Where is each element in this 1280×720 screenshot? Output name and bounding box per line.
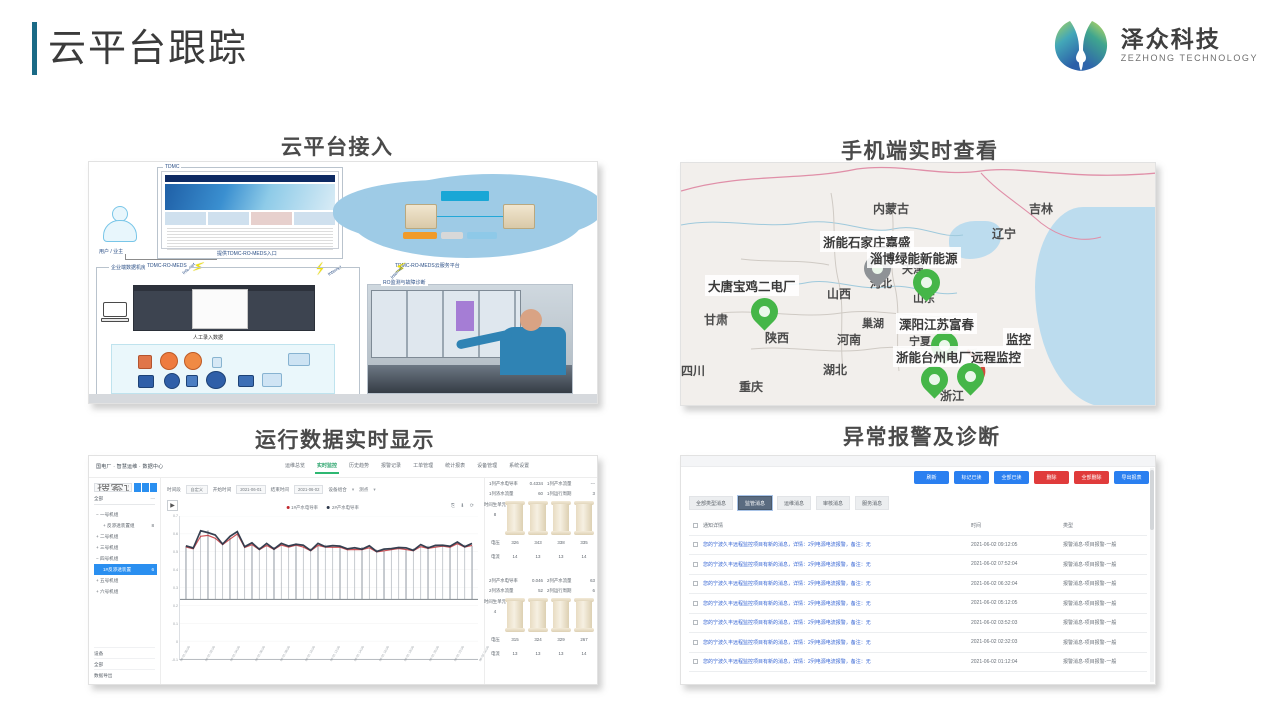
quadrant-title-mobile-view: 手机端实时查看 xyxy=(841,135,999,165)
dashboard-nav[interactable]: 运维总览 实时监控 历史趋势 报警记录 工单管理 统计报表 设备管理 系统设置 xyxy=(285,462,529,469)
select-all-checkbox[interactable] xyxy=(689,523,702,528)
y-tick: 0.6 xyxy=(173,532,178,536)
quadrant-title-cloud-access: 云平台接入 xyxy=(281,131,394,161)
filter-label-1: 开始时间 xyxy=(213,487,231,493)
spool-row-1 xyxy=(505,501,594,535)
y-tick: 0.5 xyxy=(173,550,178,554)
map-marker-label-zibo[interactable]: 淄博绿能新能源 xyxy=(867,247,961,268)
province-label-jilin: 吉林 xyxy=(1029,200,1053,217)
row-type: 报警消息-项目报警-一般 xyxy=(1063,541,1147,548)
search-icon[interactable] xyxy=(134,483,141,492)
table-row[interactable]: 您的宁波久丰远程监控项目有新的消息，详情：2列电源电流报警，备注：无 2021-… xyxy=(689,575,1147,595)
voltage-row-2: 电压 315324 329267 xyxy=(485,637,594,643)
tab-service-messages[interactable]: 服务消息 xyxy=(855,496,889,510)
metric-4: 2列产水电导率0.046 xyxy=(489,578,543,584)
unit-label-1: 时间生单元 xyxy=(484,502,506,508)
quadrant-title-alarm-diagnosis: 异常报警及诊断 xyxy=(843,421,1001,451)
portal-browser-mock xyxy=(161,171,339,249)
cloud-server-icon xyxy=(405,204,437,229)
cloud-server-icon xyxy=(503,204,535,229)
alarm-table: 通知详情 时间 类型 您的宁波久丰远程监控项目有新的消息，详情：2列电源电流报警… xyxy=(689,516,1147,678)
metric-1: 1列产水流量--- xyxy=(547,481,595,487)
metrics-panel: 1列产水电导率0.4334 1列产水流量--- 1列浓水流量60 1列运行周期3… xyxy=(484,478,597,684)
y-tick: 0.1 xyxy=(173,622,178,626)
china-map[interactable]: 内蒙古 吉林 辽宁 河北 天津 山西 山东 甘肃 陕西 河南 湖北 重庆 四川 … xyxy=(681,163,1155,405)
y-tick: 0.3 xyxy=(173,586,178,590)
filter-value-1[interactable]: 2021-06-01 xyxy=(236,485,265,494)
province-label-liaoning: 辽宁 xyxy=(992,225,1016,242)
column-header-type: 类型 xyxy=(1063,522,1147,529)
row-message[interactable]: 您的宁波久丰远程监控项目有新的消息，详情：2列电源电流报警，备注：无 xyxy=(702,580,971,587)
mark-all-read-button[interactable]: 全部已读 xyxy=(994,471,1029,484)
delete-all-button[interactable]: 全部删除 xyxy=(1074,471,1109,484)
manual-entry-label: 人工录入数据 xyxy=(193,334,223,341)
cloud-chip xyxy=(403,232,437,239)
tree-item[interactable]: + 反渗透装置组 8 xyxy=(94,520,157,531)
row-message[interactable]: 您的宁波久丰远程监控项目有新的消息，详情：2列电源电流报警，备注：无 xyxy=(702,561,971,568)
y-tick: 0.7 xyxy=(173,514,178,518)
device-tree[interactable]: − 一号机组 + 反渗透装置组 8 + 二号机组 + 三号机组 − 四号机组 1… xyxy=(94,509,157,597)
cloud-chip xyxy=(441,232,463,239)
filter-label-0: 时间段 xyxy=(167,487,181,493)
cloud-chip xyxy=(467,232,497,239)
province-label-henan: 河南 xyxy=(837,331,861,348)
user-label: 用户 / 业主 xyxy=(99,248,123,255)
add-icon[interactable] xyxy=(142,483,149,492)
spool-icon xyxy=(528,598,548,632)
quadrant-title-runtime-data: 运行数据实时显示 xyxy=(255,424,435,454)
spool-icon xyxy=(505,598,525,632)
spool-icon xyxy=(505,501,525,535)
current-row-2: 电流 1313 1314 xyxy=(485,651,594,657)
y-tick: -0.1 xyxy=(172,658,178,662)
chevron-down-icon[interactable]: — xyxy=(151,496,156,501)
refresh-button[interactable]: 刷新 xyxy=(914,471,949,484)
row-type: 报警消息-项目报警-一般 xyxy=(1063,561,1147,568)
slide-header: 云平台跟踪 泽众科技 ZEZHONG TECHNOLOGY xyxy=(0,0,1280,104)
metric-6: 2列浓水流量52 xyxy=(489,588,543,594)
portal-caption: TDMC xyxy=(163,164,181,170)
nav-item-3[interactable]: 报警记录 xyxy=(381,462,401,469)
title-accent-bar xyxy=(32,22,37,75)
spool-icon xyxy=(551,598,571,632)
row-checkbox[interactable] xyxy=(689,640,702,645)
table-row[interactable]: 您的宁波久丰远程监控项目有新的消息，详情：2列电源电流报警，备注：无 2021-… xyxy=(689,555,1147,575)
column-header-time: 时间 xyxy=(971,522,1063,529)
row-time: 2021-06-02 09:12:05 xyxy=(971,542,1063,548)
table-row[interactable]: 您的宁波久丰远程监控项目有新的消息，详情：2列电源电流报警，备注：无 2021-… xyxy=(689,633,1147,653)
spool-icon xyxy=(574,598,594,632)
cloud-tag-badge xyxy=(441,191,489,201)
table-row[interactable]: 您的宁波久丰远程监控项目有新的消息，详情：2列电源电流报警，备注：无 2021-… xyxy=(689,614,1147,634)
table-header-row: 通知详情 时间 类型 xyxy=(689,516,1147,536)
user-avatar-icon xyxy=(103,206,137,246)
spool-row-2 xyxy=(505,598,594,632)
logo-name-en: ZEZHONG TECHNOLOGY xyxy=(1121,52,1258,65)
filter-value-0[interactable]: 自定义 xyxy=(186,485,208,494)
row-time: 2021-06-02 07:52:04 xyxy=(971,561,1063,567)
table-row[interactable]: 您的宁波久丰远程监控项目有新的消息，详情：2列电源电流报警，备注：无 2021-… xyxy=(689,536,1147,556)
row-time: 2021-06-02 03:52:03 xyxy=(971,620,1063,626)
province-label-chaohu: 巢湖 xyxy=(862,315,884,331)
sidebar-footer[interactable]: 设备 全部 数据导出 xyxy=(94,647,155,680)
map-marker-zibo[interactable] xyxy=(913,269,940,303)
mark-read-button[interactable]: 标记已读 xyxy=(954,471,989,484)
filter-value-2[interactable]: 2021-06-02 xyxy=(294,485,323,494)
voltage-row-1: 电压 326343 338335 xyxy=(485,540,594,546)
nav-item-7[interactable]: 系统设置 xyxy=(509,462,529,469)
tab-supervision-messages[interactable]: 监管消息 xyxy=(738,496,772,510)
unit-label-2: 时间生单元 xyxy=(484,599,506,605)
x-axis: 06-01 00:0006-01 02:0006-01 04:0006-01 0… xyxy=(179,660,478,670)
row-time: 2021-06-02 01:12:04 xyxy=(971,659,1063,665)
chart-area: 时间段 自定义 开始时间 2021-06-01 结束时间 2021-06-02 … xyxy=(161,478,484,684)
map-marker-label-monitor[interactable]: 监控 xyxy=(1003,328,1034,349)
metric-7: 2列运行周期6 xyxy=(547,588,595,594)
row-checkbox[interactable] xyxy=(689,620,702,625)
tab-all-messages[interactable]: 全部类型消息 xyxy=(689,496,733,510)
tree-item[interactable]: − 四号机组 xyxy=(94,553,157,564)
row-checkbox[interactable] xyxy=(689,601,702,606)
row-checkbox[interactable] xyxy=(689,659,702,664)
spool-icon xyxy=(574,501,594,535)
unit-value-1: 8 xyxy=(484,512,506,517)
row-type: 报警消息-项目报警-一般 xyxy=(1063,619,1147,626)
chevron-down-icon[interactable]: ▾ xyxy=(352,487,354,493)
province-label-neimenggu: 内蒙古 xyxy=(873,200,909,217)
y-tick: 0.2 xyxy=(173,604,178,608)
alarm-diagnosis-panel[interactable]: 刷新 标记已读 全部已读 删除 全部删除 导出报表 全部类型消息 监管消息 运维… xyxy=(680,455,1156,685)
footer-item-1[interactable]: 全部 xyxy=(94,658,155,669)
y-tick: 0.4 xyxy=(173,568,178,572)
cloud-platform-illustration xyxy=(351,178,583,258)
bottom-strip xyxy=(89,394,597,403)
column-header-message: 通知详情 xyxy=(702,522,971,529)
chart-toolbar-icons[interactable]: ⎘ ⬇ ⟳ xyxy=(451,503,476,509)
row-type: 报警消息-项目报警-一般 xyxy=(1063,600,1147,607)
mobile-map-view[interactable]: 内蒙古 吉林 辽宁 河北 天津 山西 山东 甘肃 陕西 河南 湖北 重庆 四川 … xyxy=(680,162,1156,406)
spool-icon xyxy=(528,501,548,535)
row-message[interactable]: 您的宁波久丰远程监控项目有新的消息，详情：2列电源电流报警，备注：无 xyxy=(702,619,971,626)
footer-item-0[interactable]: 设备 xyxy=(94,647,155,658)
map-marker-monitor[interactable] xyxy=(957,363,984,397)
alarm-action-buttons[interactable]: 刷新 标记已读 全部已读 删除 全部删除 导出报表 xyxy=(914,471,1149,484)
photo-label: RO监测与故障诊断 xyxy=(381,279,428,286)
hmi-screen-mock xyxy=(133,285,315,331)
metric-5: 2列产水流量63 xyxy=(547,578,595,584)
row-type: 报警消息-项目报警-一般 xyxy=(1063,580,1147,587)
portal-entry-label: 提供TDMC-RO-MEDS入口 xyxy=(217,250,277,257)
chevron-down-icon[interactable]: ▾ xyxy=(373,487,375,493)
nav-item-4[interactable]: 工单管理 xyxy=(413,462,433,469)
nav-item-6[interactable]: 设备管理 xyxy=(477,462,497,469)
tree-item[interactable]: + 三号机组 xyxy=(94,542,157,553)
table-row[interactable]: 您的宁波久丰远程监控项目有新的消息，详情：2列电源电流报警，备注：无 2021-… xyxy=(689,594,1147,614)
row-message[interactable]: 您的宁波久丰远程监控项目有新的消息，详情：2列电源电流报警，备注：无 xyxy=(702,639,971,646)
nav-item-1[interactable]: 实时监控 xyxy=(317,462,337,469)
export-report-button[interactable]: 导出报表 xyxy=(1114,471,1149,484)
device-tree-sidebar[interactable]: 全部 — − 一号机组 + 反渗透装置组 8 + 二号机组 + 三号机组 − 四… xyxy=(89,478,161,684)
spool-icon xyxy=(551,501,571,535)
row-message[interactable]: 您的宁波久丰远程监控项目有新的消息，详情：2列电源电流报警，备注：无 xyxy=(702,658,971,665)
search-input[interactable] xyxy=(94,483,132,492)
leaf-droplet-icon xyxy=(1051,17,1111,73)
legend-item-1[interactable]: 2#产水电导率 xyxy=(327,505,359,511)
runtime-data-dashboard[interactable]: 国电厂 · 智慧运维 · 数据中心 运维总览 实时监控 历史趋势 报警记录 工单… xyxy=(88,455,598,685)
tree-item-selected[interactable]: 1#反渗透装置 6 xyxy=(94,564,157,575)
map-marker-label-liyang[interactable]: 溧阳江苏富春 xyxy=(896,313,977,334)
row-checkbox[interactable] xyxy=(689,562,702,567)
datacenter-frame: 企业端数据机房 人工录入数据 xyxy=(96,267,360,397)
row-time: 2021-06-02 05:12:05 xyxy=(971,600,1063,606)
more-icon[interactable] xyxy=(150,483,157,492)
play-icon[interactable]: ▶ xyxy=(167,500,178,511)
row-checkbox[interactable] xyxy=(689,581,702,586)
chart-canvas: 0.70.60.50.40.30.20.10-0.1 06-01 00:0006… xyxy=(167,516,478,670)
map-marker-baoji[interactable] xyxy=(751,298,778,332)
current-row-1: 电流 1413 1314 xyxy=(485,554,594,560)
workstation-icon xyxy=(101,302,129,324)
footer-item-2[interactable]: 数据导出 xyxy=(94,669,155,680)
table-row[interactable]: 您的宁波久丰远程监控项目有新的消息，详情：2列电源电流报警，备注：无 2021-… xyxy=(689,653,1147,673)
map-marker-label-baoji[interactable]: 大唐宝鸡二电厂 xyxy=(705,275,799,296)
vertical-scrollbar[interactable] xyxy=(1150,468,1154,682)
nav-item-5[interactable]: 统计报表 xyxy=(445,462,465,469)
dashboard-brand: 国电厂 · 智慧运维 · 数据中心 xyxy=(96,463,163,470)
delete-button[interactable]: 删除 xyxy=(1034,471,1069,484)
alarm-topbar xyxy=(681,456,1155,467)
row-type: 报警消息-项目报警-一般 xyxy=(1063,639,1147,646)
chart-legend[interactable]: 1#产水电导率 2#产水电导率 xyxy=(286,505,359,511)
row-type: 报警消息-项目报警-一般 xyxy=(1063,658,1147,665)
y-tick: 0 xyxy=(176,640,178,644)
filter-row[interactable]: 时间段 自定义 开始时间 2021-06-01 结束时间 2021-06-02 … xyxy=(167,484,478,495)
metric-2: 1列浓水流量60 xyxy=(489,491,543,497)
cloud-architecture-diagram: 用户 / 业主 TDMC 提供TDMC-RO-MEDS入口 TDMC-RO-ME… xyxy=(88,161,598,404)
metric-3: 1列运行周期3 xyxy=(547,491,595,497)
tree-item[interactable]: + 五号机组 xyxy=(94,575,157,586)
nav-item-2[interactable]: 历史趋势 xyxy=(349,462,369,469)
dashboard-topbar: 国电厂 · 智慧运维 · 数据中心 运维总览 实时监控 历史趋势 报警记录 工单… xyxy=(89,456,597,478)
nav-item-0[interactable]: 运维总览 xyxy=(285,462,305,469)
scope-select[interactable]: 全部 — xyxy=(94,496,155,505)
datacenter-label: 企业端数据机房 xyxy=(109,264,148,271)
metric-0: 1列产水电导率0.4334 xyxy=(489,481,543,487)
unit-value-2: 4 xyxy=(484,609,506,614)
process-flow-diagram xyxy=(111,344,335,394)
province-label-chongqing: 重庆 xyxy=(739,378,763,395)
chart-series-svg xyxy=(180,516,478,659)
row-message[interactable]: 您的宁波久丰远程监控项目有新的消息，详情：2列电源电流报警，备注：无 xyxy=(702,541,971,548)
page-title: 云平台跟踪 xyxy=(48,24,248,74)
left-frame-label: TDMC-RO-MEDS xyxy=(145,263,189,269)
province-label-gansu: 甘肃 xyxy=(704,311,728,328)
y-axis: 0.70.60.50.40.30.20.10-0.1 xyxy=(167,516,179,660)
alarm-tabs[interactable]: 全部类型消息 监管消息 运维消息 审核消息 服务消息 xyxy=(689,496,889,510)
tree-item[interactable]: + 六号机组 xyxy=(94,586,157,597)
filter-label-2: 结束时间 xyxy=(271,487,289,493)
row-message[interactable]: 您的宁波久丰远程监控项目有新的消息，详情：2列电源电流报警，备注：无 xyxy=(702,600,971,607)
search-action-buttons[interactable] xyxy=(134,483,157,492)
tab-maintenance-messages[interactable]: 运维消息 xyxy=(777,496,811,510)
row-time: 2021-06-02 02:32:03 xyxy=(971,639,1063,645)
province-label-shanxi: 山西 xyxy=(827,285,851,302)
legend-item-0[interactable]: 1#产水电导率 xyxy=(286,505,318,511)
brand-logo: 泽众科技 ZEZHONG TECHNOLOGY xyxy=(1051,16,1258,74)
province-label-sichuan: 四川 xyxy=(681,362,705,379)
row-time: 2021-06-02 06:32:04 xyxy=(971,581,1063,587)
filter-label-3: 设备组合 xyxy=(328,487,346,493)
logo-name-cn: 泽众科技 xyxy=(1121,26,1258,52)
map-marker-taizhou[interactable] xyxy=(921,366,948,400)
tab-audit-messages[interactable]: 审核消息 xyxy=(816,496,850,510)
filter-label-4: 测点 xyxy=(359,487,368,493)
plot-area xyxy=(179,516,478,660)
tree-item[interactable]: − 一号机组 xyxy=(94,509,157,520)
row-checkbox[interactable] xyxy=(689,542,702,547)
control-room-photo xyxy=(367,284,573,394)
tree-item[interactable]: + 二号机组 xyxy=(94,531,157,542)
province-label-hubei: 湖北 xyxy=(823,361,847,378)
